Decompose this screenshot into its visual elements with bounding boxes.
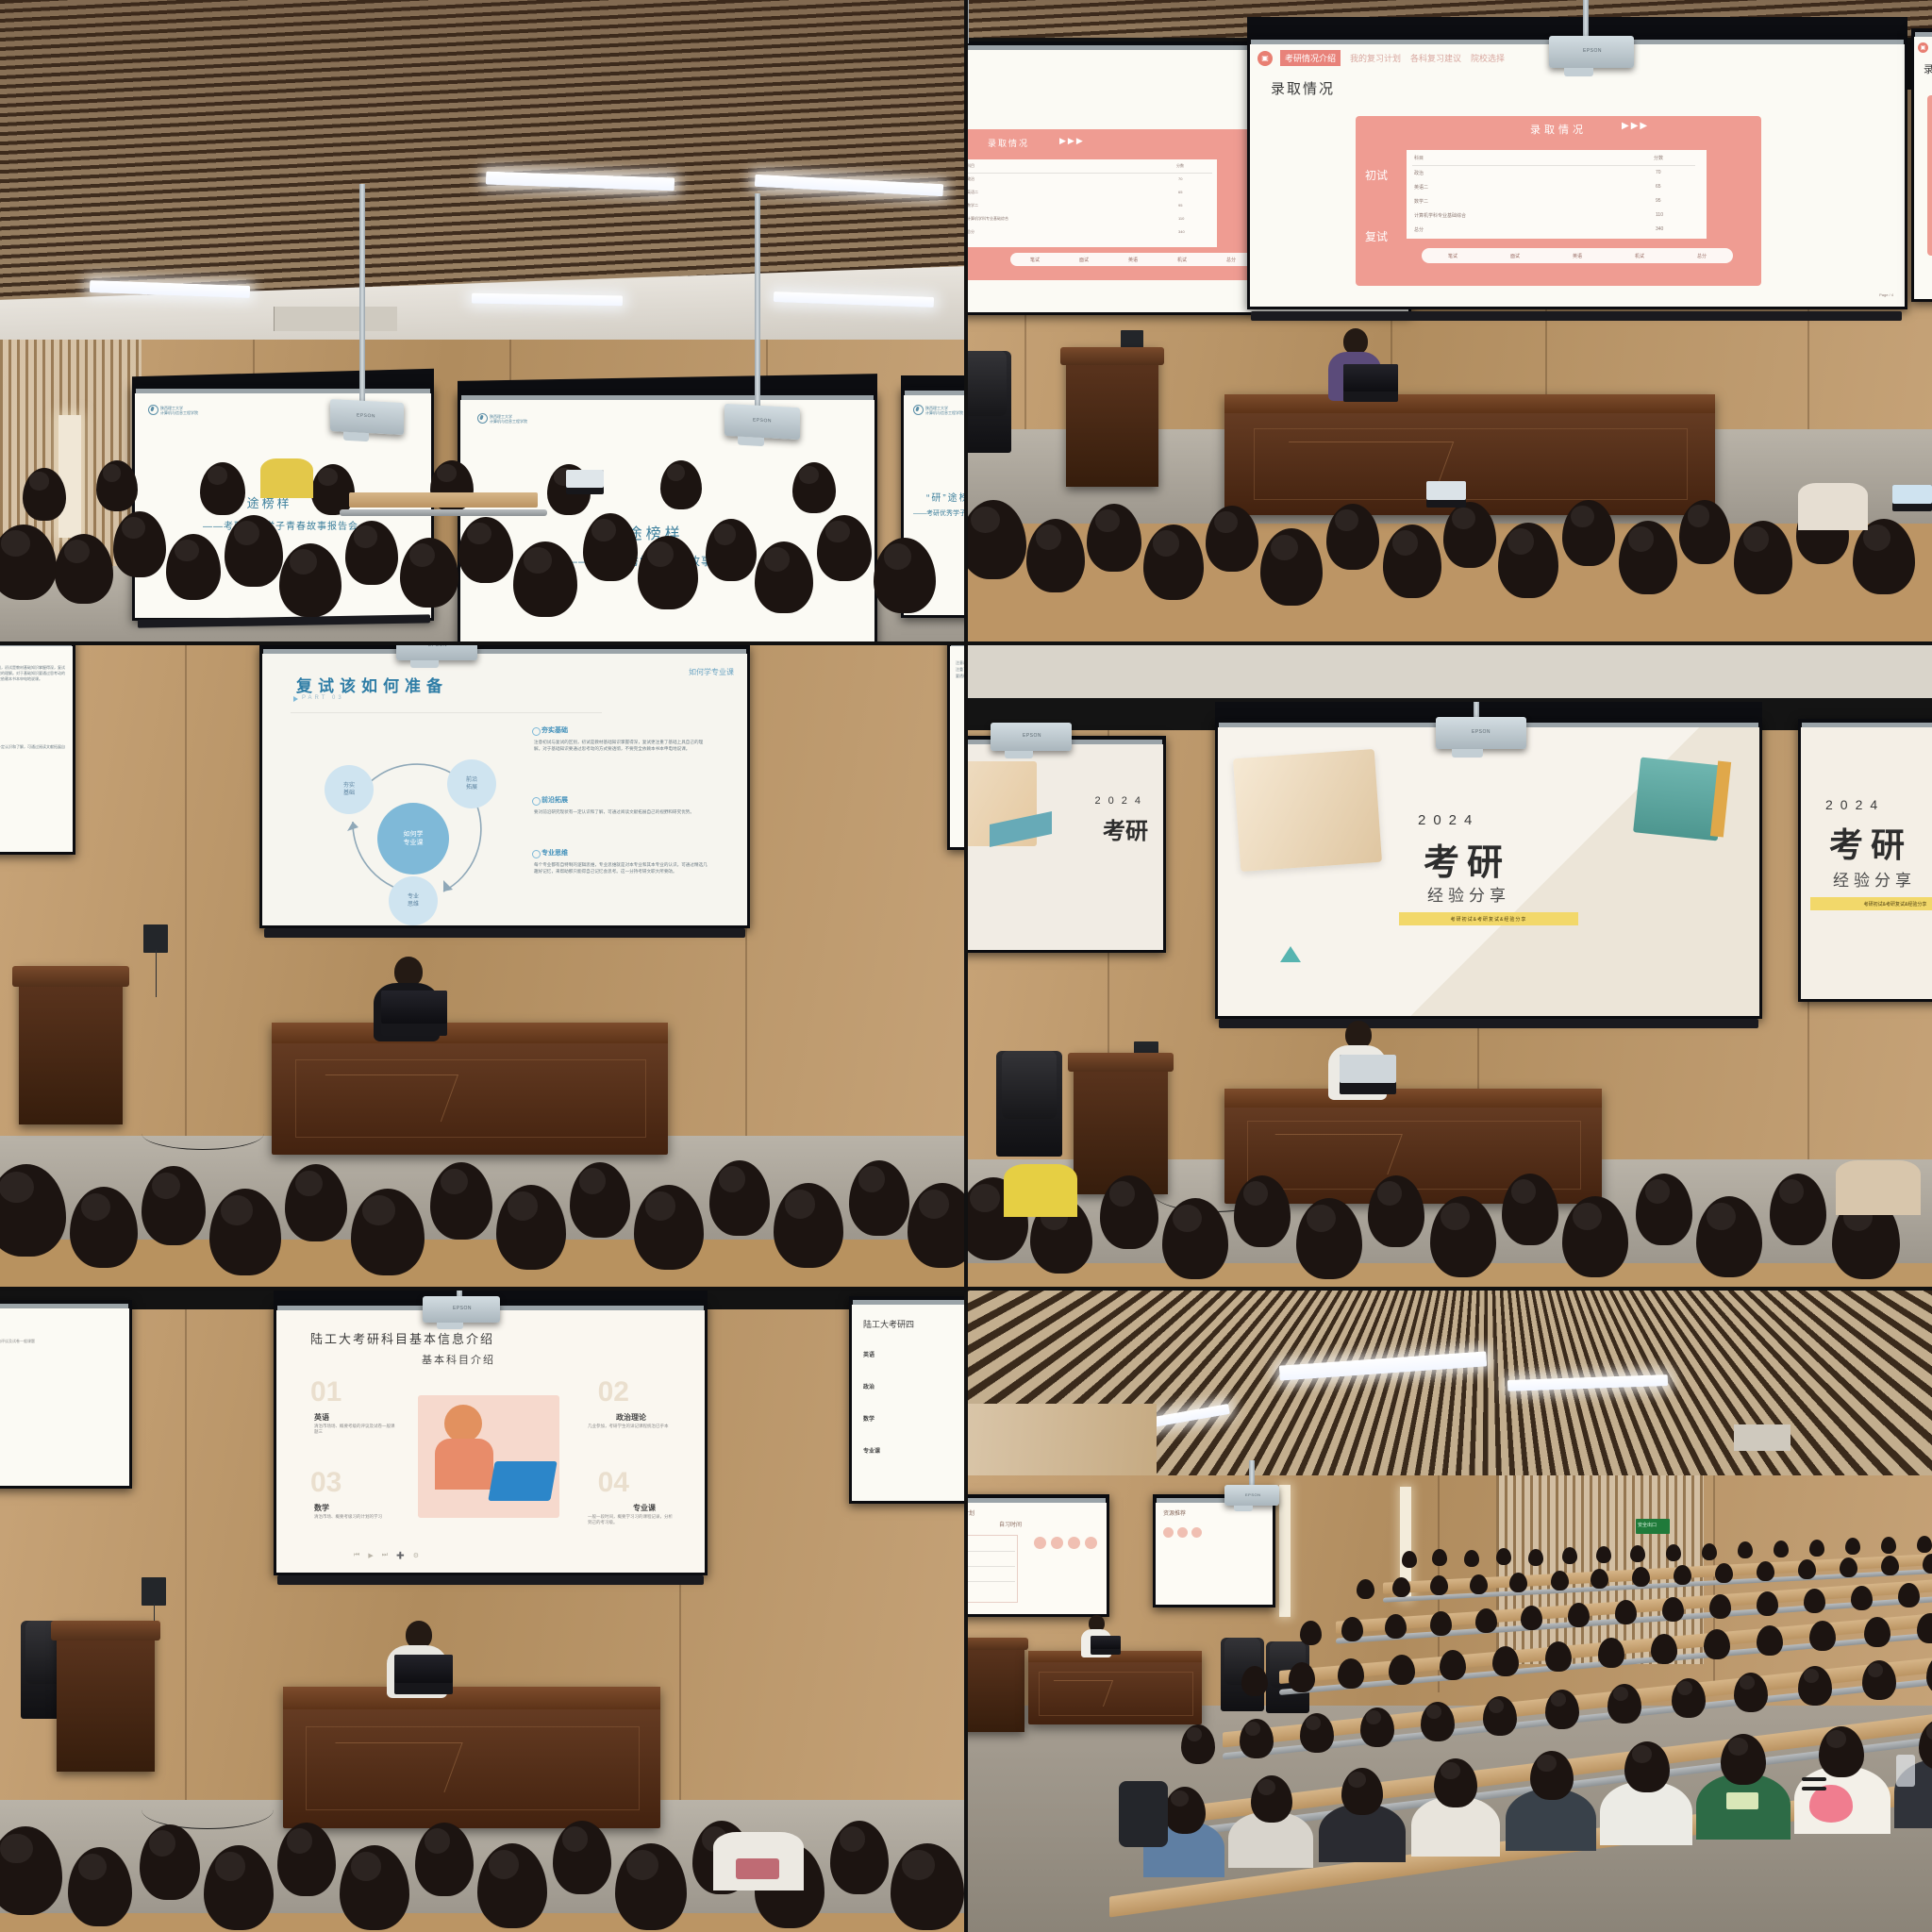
audience-head — [70, 1187, 138, 1268]
item-text: 清治市场场、概要考级的评议及试卷一般课题三 — [0, 1339, 35, 1350]
table-row-label: 政治 — [1414, 170, 1424, 176]
audience-rows-bottom-left — [0, 1790, 964, 1932]
ceiling-projector: EPSON — [423, 1296, 500, 1323]
audience-head — [1770, 1174, 1826, 1245]
projection-screen-center: 复试该如何准备 PART 03 如何学专业课 夯实 基础 前沿 拓展 — [259, 645, 750, 928]
ceiling-projector-left: EPSON — [991, 723, 1072, 751]
table-row-value: 340 — [1656, 226, 1663, 232]
slide-left: 初试复习计划 自习时间 — [968, 1503, 1107, 1614]
table-row-value: 95 — [1656, 198, 1661, 204]
node-line1: 前沿 — [466, 776, 477, 784]
cycle-node-frontier: 前沿 拓展 — [447, 759, 496, 808]
presenter-desk — [272, 1023, 668, 1155]
slide-year: 2024 — [1418, 812, 1479, 828]
wall-seam — [185, 1309, 187, 1838]
part-marker-icon — [293, 696, 298, 702]
table-row-label: 总分 — [968, 229, 974, 235]
presenter-head — [1343, 328, 1368, 355]
screen-roller-bar — [1219, 1019, 1758, 1028]
enrollment-card: 初试 复试 — [1927, 95, 1932, 256]
audience-shirt-graphic — [1726, 1792, 1758, 1809]
ceiling-projector: EPSON — [1224, 1485, 1279, 1506]
audience-beige-shirt — [1836, 1160, 1921, 1215]
slide-icon-row — [1034, 1537, 1097, 1549]
slide-icon-row — [1163, 1527, 1202, 1538]
audience-head — [1757, 1591, 1778, 1616]
prev-icon[interactable]: ⏮ — [354, 1552, 359, 1559]
slide-left-partial: 夯实基础 注意初试与复试的区别，初试是教材基础知识掌握得深，复试更注重了基础上具… — [0, 646, 73, 852]
table-row-value: 95 — [1178, 203, 1182, 208]
dot-icon — [1163, 1527, 1174, 1538]
ceiling-projector: EPSON — [330, 399, 404, 435]
audience-head — [774, 1183, 843, 1268]
audience-shirt-stripe — [1802, 1787, 1826, 1790]
audience-head — [638, 536, 698, 609]
slide-right-partial: 2024 考研 经验分享 考研初试&考研复试&经验分享 — [1801, 727, 1932, 999]
audience-head — [1143, 525, 1204, 600]
item-number: 02 — [598, 1376, 629, 1408]
side-item: 数学 — [863, 1414, 874, 1423]
audience-head — [1551, 1571, 1569, 1591]
audience-head — [1596, 1546, 1611, 1563]
logo-ring-icon — [477, 413, 488, 424]
bench-rail — [340, 509, 547, 516]
audience-head — [1562, 500, 1615, 566]
audience-rows-top-right — [968, 462, 1932, 641]
audience-head — [209, 1189, 281, 1275]
card-header: 录取情况 — [1356, 116, 1761, 142]
ceiling-projector: EPSON — [724, 404, 800, 440]
audience-head — [1530, 1751, 1574, 1800]
audience-head — [1234, 1175, 1291, 1247]
audience-head — [1715, 1563, 1733, 1583]
projection-screen-right-partial: 陆工大考研四 英语 政治 数学 专业课 — [849, 1296, 964, 1504]
audience-head — [1432, 1549, 1447, 1566]
projector-mount-pole — [968, 0, 969, 43]
slide-header: 资源推荐 — [1163, 1508, 1186, 1517]
slide-page-number: Page / 4 — [1879, 292, 1893, 297]
projection-screen-right-partial: 注意初试与复试的区别，初试是教材基础知识掌握得深，复试更注重了基础上具自己的理解… — [947, 645, 964, 850]
slide-illustration — [418, 1395, 559, 1518]
logo-line2: 计算机与信息工程学院 — [490, 419, 527, 424]
slide-year: 2024 — [1825, 797, 1885, 812]
node-line2: 拓展 — [466, 784, 477, 791]
audience-head — [1630, 1545, 1645, 1562]
audience-head — [1898, 1583, 1920, 1607]
nav-brand-icon: ▣ — [1257, 51, 1273, 66]
audience-head — [0, 1164, 66, 1257]
audience-head — [1881, 1537, 1896, 1554]
slide-playbar[interactable]: ⏮ ▶ ⏭ ➕ ⚙ — [354, 1552, 419, 1559]
item-text: 一般一段时间，概要学习习的课程记录，分析到己的考习级。 — [588, 1514, 676, 1525]
audience-head — [1357, 1579, 1374, 1599]
audience-head — [340, 1845, 409, 1930]
slide-left-partial: 2024 考研 — [968, 744, 1163, 950]
table-row-value: 70 — [1656, 170, 1661, 175]
audience-head — [1326, 504, 1379, 570]
slide-right-partial: 陆工大考研四 英语 政治 数学 专业课 — [852, 1305, 964, 1501]
audience-head — [583, 513, 638, 581]
audience-head — [1492, 1646, 1519, 1676]
audience-head — [96, 460, 138, 511]
audience-head — [351, 1189, 425, 1275]
slide-left-partial: 英语 清治市场场、概要考级的评议及试卷一般课题三 专业课 — [0, 1308, 129, 1486]
audience-head — [142, 1166, 206, 1245]
section-bullet-icon — [532, 727, 541, 736]
stage-label: 初试 — [1365, 167, 1388, 183]
audience-head — [1798, 1559, 1816, 1579]
audience-yellow-shirt — [260, 458, 313, 498]
table-row-value: 70 — [1178, 176, 1182, 181]
audience-head — [1483, 1696, 1517, 1736]
audience-head — [1240, 1719, 1274, 1758]
section-body: 要对前沿研究现状有一定认识和了解，可通过阅读文献拓展自己的视野和研究优势。 — [0, 744, 67, 756]
audience-head — [415, 1823, 474, 1896]
slide-main: 考研 — [1829, 818, 1912, 867]
audience-shirt-heart-graphic — [1809, 1785, 1853, 1823]
slide-center: ▣ 考研情况介绍 我的复习计划 各科复习建议 院校选择 录取情况 录取情况 ▶▶… — [1250, 44, 1905, 307]
section-bullet-icon — [532, 797, 541, 806]
projection-screen-left-partial: 英语 清治市场场、概要考级的评议及试卷一般课题三 专业课 — [0, 1300, 132, 1489]
audience-head — [1475, 1608, 1497, 1633]
stage-chair — [996, 1051, 1062, 1157]
pill-item: 面试 — [1510, 253, 1520, 259]
arrow-markers-icon: ▶▶▶ — [1622, 121, 1649, 131]
add-icon[interactable]: ➕ — [396, 1552, 405, 1559]
audience-head — [1162, 1198, 1228, 1279]
illustration-person-body — [435, 1439, 493, 1490]
stage-label: 复试 — [1365, 228, 1388, 244]
projector-brand: EPSON — [428, 645, 447, 648]
node-line2: 思维 — [408, 901, 419, 908]
audience-head — [311, 464, 355, 515]
audience-head — [1738, 1541, 1753, 1558]
audience-shirt-stripe — [1802, 1777, 1826, 1781]
pill-item: 机试 — [1635, 253, 1644, 259]
presenter-laptop — [394, 1655, 453, 1694]
audience-shirt-graphic — [736, 1858, 779, 1879]
audience-head — [430, 1162, 492, 1240]
audience-head — [1757, 1561, 1774, 1581]
audience-head — [400, 538, 458, 608]
audience-head — [1917, 1536, 1932, 1553]
ceiling-projector: EPSON — [396, 645, 477, 660]
audience-head — [1679, 500, 1730, 564]
audience-head — [1809, 1621, 1836, 1651]
exit-sign-label: 安全出口 — [1638, 1522, 1657, 1528]
audience-head — [1430, 1611, 1452, 1636]
item-number: 01 — [310, 1376, 341, 1408]
logo-ring-icon — [913, 405, 924, 415]
audience-head — [458, 517, 513, 583]
audience-laptop — [566, 470, 604, 494]
table-row-value: 110 — [1178, 216, 1184, 221]
nav-item[interactable]: 我的复习计划 — [1350, 52, 1401, 64]
audience-head — [1709, 1594, 1731, 1619]
illustration-laptop — [488, 1461, 557, 1501]
audience-head — [1704, 1629, 1730, 1659]
slide-header-mid: 自习时间 — [999, 1520, 1022, 1528]
audience-head — [285, 1164, 347, 1241]
bench-desk — [349, 492, 538, 508]
slide-center: 陆工大考研科目基本信息介绍 基本科目介绍 01 英语 清治市场场、概要考级的评议… — [276, 1310, 705, 1573]
audience-head — [1385, 1614, 1407, 1639]
section-body-3: 每个专业都有自特制的逻辑思维，专业思维就是对本专业和其本专业的认识。可通过精选几… — [534, 861, 711, 874]
play-icon[interactable]: ▶ — [368, 1552, 373, 1559]
audience-head — [660, 460, 702, 509]
audience-head — [830, 1821, 889, 1894]
audience-rows-mid-right — [968, 1145, 1932, 1287]
side-slide-header: 陆工大考研四 — [863, 1318, 914, 1330]
pill-item: 机试 — [1177, 257, 1187, 263]
audience-yellow-shirt — [1004, 1164, 1077, 1217]
audience-head — [1619, 521, 1677, 594]
audience-head — [0, 1826, 62, 1915]
slide-sub: 经验分享 — [1833, 867, 1916, 891]
gear-icon[interactable]: ⚙ — [413, 1552, 419, 1559]
pill-item: 笔试 — [1448, 253, 1457, 259]
slide-navbar: ▣ 考研情况介绍 — [1914, 37, 1932, 58]
audience-head — [1026, 519, 1085, 592]
dot-icon — [1068, 1537, 1080, 1549]
audience-head — [140, 1824, 200, 1900]
audience-head — [1470, 1574, 1488, 1594]
node-line1: 夯实 — [343, 782, 355, 790]
side-item: 专业课 — [863, 1446, 880, 1455]
audience-head — [1383, 525, 1441, 598]
ceiling-projector: EPSON — [1436, 717, 1526, 749]
audience-head — [1615, 1600, 1637, 1624]
projector-brand: EPSON — [357, 412, 375, 419]
stage-monitor-speaker — [142, 1577, 166, 1606]
photo-collage: 陕西理工大学 计算机与信息工程学院 “研”途榜样 ——考研优秀学子青春故事报告会… — [0, 0, 1932, 1932]
audience-laptop — [1892, 485, 1932, 511]
audience-head — [1181, 1724, 1215, 1764]
table-row-label: 数学二 — [968, 203, 978, 208]
illustration-person-head — [444, 1405, 482, 1442]
slide-year: 2024 — [1095, 795, 1148, 807]
audience-head — [1502, 1174, 1558, 1245]
dot-icon — [1051, 1537, 1063, 1549]
projection-screen-right-partial: 2024 考研 经验分享 考研初试&考研复试&经验分享 — [1798, 719, 1932, 1002]
audience-rows-mid-left — [0, 1136, 964, 1287]
section-head-1: 夯实基础 — [541, 725, 568, 735]
audience-head — [1607, 1684, 1641, 1724]
item-text: 清治市场场、概要考级的评议及试卷一般课题三 — [314, 1424, 397, 1435]
slide-table — [968, 1535, 1018, 1603]
slide-title: 复试该如何准备 — [296, 673, 448, 696]
audience-head — [0, 525, 57, 600]
audience-head — [1662, 1597, 1684, 1622]
audience-head — [1624, 1741, 1670, 1792]
pill-item: 总分 — [1697, 253, 1707, 259]
center-line1: 如何学 — [404, 830, 424, 839]
slide-sub: 经验分享 — [1427, 882, 1510, 906]
audience-head — [1498, 523, 1558, 598]
projector-mount-pole — [1583, 0, 1589, 40]
item-number: 03 — [310, 1467, 341, 1499]
cycle-node-thinking: 专业 思维 — [389, 876, 438, 925]
audience-head — [1702, 1543, 1717, 1560]
stage-pill-bar: 笔试 面试 英语 机试 总分 — [1422, 248, 1733, 263]
projector-brand: EPSON — [453, 1306, 472, 1311]
section-body-1: 注意初试与复试的区别，初试是教材基础知识掌握得深，复试更注重了基础上具自己的理解… — [534, 739, 711, 752]
audience-head — [755, 541, 813, 613]
audience-head — [68, 1847, 132, 1926]
audience-head — [1591, 1569, 1608, 1589]
audience-head — [968, 500, 1026, 579]
audience-head — [1464, 1550, 1479, 1567]
projection-screen-right: ▣ 考研情况介绍 录取情况 初试 复试 — [1911, 28, 1932, 302]
audience-rows-top-left — [0, 443, 964, 641]
arrow-markers-icon: ▶▶▶ — [1059, 136, 1085, 146]
pill-item: 总分 — [1226, 257, 1236, 263]
audience-head — [513, 541, 577, 617]
projector-mount-pole — [359, 184, 365, 401]
score-table: 科目 分数 政治 70 英语二 65 数学二 95 计算机学科专业基础综合 11… — [968, 159, 1217, 247]
dot-icon — [1085, 1537, 1097, 1549]
audience-head — [1545, 1641, 1572, 1672]
audience-head — [1100, 1175, 1158, 1249]
slide-header: 陆工大考研科目基本信息介绍 — [310, 1329, 494, 1347]
audience-head — [1774, 1541, 1789, 1557]
table-row-label: 计算机学科专业基础综合 — [1414, 212, 1466, 219]
projector-brand: EPSON — [1023, 733, 1041, 739]
nav-brand-icon: ▣ — [1918, 42, 1928, 53]
audience-head — [279, 543, 341, 617]
audience-head — [1545, 1690, 1579, 1729]
audience-head — [1430, 1575, 1448, 1595]
audience-head — [1632, 1567, 1650, 1587]
section-body: 注意初试与复试的区别，初试是教材基础知识掌握得深，复试更注重了基础上具自己的理解… — [956, 659, 964, 679]
screen-roller-bar — [1251, 311, 1902, 321]
audience-head — [1296, 1198, 1362, 1279]
item-number: 04 — [598, 1467, 629, 1499]
triangle-accent-icon — [1280, 946, 1301, 962]
audience-head — [1562, 1547, 1577, 1564]
audience-head — [1251, 1775, 1292, 1823]
audience-head — [1392, 1577, 1410, 1597]
audience-head — [1881, 1556, 1899, 1575]
wall-seam — [185, 645, 187, 1145]
audience-head — [1672, 1678, 1706, 1718]
university-logo: 陕西理工大学 计算机与信息工程学院 — [913, 405, 963, 415]
audience-head — [1757, 1625, 1783, 1656]
audience-head — [1666, 1544, 1681, 1561]
item-text: 清治市场、概要考级习的计划的学习 — [314, 1514, 397, 1520]
projection-screen-left: 初试复习计划 自习时间 — [968, 1494, 1109, 1617]
cycle-center: 如何学 专业课 — [377, 803, 449, 874]
part-label: PART 03 — [302, 695, 344, 701]
projector-brand: EPSON — [1245, 1492, 1261, 1497]
audience-laptop — [1426, 481, 1466, 508]
stage-pill-bar: 笔试 面试 英语 机试 总分 — [1010, 253, 1256, 266]
projection-screen-center: 2024 考研 经验分享 考研初试&考研复试&经验分享 — [1215, 719, 1762, 1019]
panel-top-right: 录取情况 ▶▶▶ 科目 分数 政治 70 英语二 65 数学二 95 计算机学科… — [968, 0, 1932, 641]
table-row-value: 65 — [1178, 190, 1182, 194]
audience-head — [1819, 1726, 1864, 1777]
university-logo: 陕西理工大学 计算机与信息工程学院 — [477, 413, 527, 424]
audience-light-shirt — [1798, 483, 1868, 530]
projection-screen-center: 陆工大考研科目基本信息介绍 基本科目介绍 01 英语 清治市场场、概要考级的评议… — [274, 1302, 708, 1575]
table-row-label: 总分 — [1414, 226, 1424, 233]
pill-item: 英语 — [1573, 253, 1582, 259]
dot-icon — [1034, 1537, 1046, 1549]
audience-head — [1443, 502, 1496, 568]
section-head-2: 前沿拓展 — [541, 795, 568, 805]
audience-head — [345, 521, 398, 585]
audience-head — [1853, 519, 1915, 594]
slide-center: 复试该如何准备 PART 03 如何学专业课 夯实 基础 前沿 拓展 — [262, 654, 747, 925]
node-line2: 基础 — [343, 790, 355, 797]
audience-head — [166, 534, 221, 600]
cycle-node-foundation: 夯实 基础 — [325, 765, 374, 814]
logo-line2: 计算机与信息工程学院 — [160, 410, 198, 415]
next-icon[interactable]: ⏭ — [382, 1552, 388, 1559]
nav-item[interactable]: 各科复习建议 — [1410, 52, 1461, 64]
lectern-podium — [968, 1638, 1024, 1732]
ceiling-flat-band — [968, 645, 1932, 706]
dot-icon — [1191, 1527, 1202, 1538]
slide-ribbon: 考研初试&考研复试&经验分享 — [1810, 897, 1932, 910]
table-row-label: 计算机学科专业基础综合 — [968, 216, 1008, 222]
stage-chair — [968, 351, 1011, 453]
projector-brand: EPSON — [1472, 729, 1491, 735]
ceiling-vent — [1734, 1424, 1790, 1451]
nav-item[interactable]: 院校选择 — [1471, 52, 1505, 64]
table-row-label: 政治 — [968, 176, 974, 182]
audience-head — [225, 515, 283, 587]
ceiling-vent — [274, 307, 397, 331]
audience-head — [1360, 1707, 1394, 1747]
item-text: 几业参加，考研学生的详记课程统治已乎本 — [588, 1424, 676, 1429]
audience-head — [891, 1843, 964, 1930]
panel-bottom-left: 英语 清治市场场、概要考级的评议及试卷一般课题三 专业课 陆工大考研科目基本信息… — [0, 1291, 964, 1932]
audience-head — [1851, 1586, 1873, 1610]
lectern-podium — [19, 966, 123, 1124]
audience-head — [1300, 1621, 1322, 1645]
projector-brand: EPSON — [1583, 48, 1602, 54]
audience-head — [1636, 1174, 1692, 1245]
audience-head — [874, 538, 936, 613]
audience-head — [1528, 1549, 1543, 1566]
projection-screen-left-partial: 2024 考研 — [968, 736, 1166, 953]
audience-head — [570, 1162, 630, 1238]
audience-head — [1430, 1196, 1496, 1277]
panel-mid-right: 2024 考研 2024 考研 经验分享 考研初试&考研复试&经验分享 2024… — [968, 645, 1932, 1287]
audience-head — [1696, 1196, 1762, 1277]
pill-item: 面试 — [1079, 257, 1089, 263]
audience-head — [1845, 1538, 1860, 1555]
section-body: 注意初试与复试的区别，初试是教材基础知识掌握得深，复试更注重了基础上具自己的理解… — [0, 665, 67, 682]
audience-head — [277, 1823, 336, 1896]
presenter-laptop — [1340, 1055, 1396, 1094]
audience-head — [1568, 1603, 1590, 1627]
audience-head — [1300, 1713, 1334, 1753]
pill-item: 英语 — [1128, 257, 1138, 263]
nav-item-active[interactable]: 考研情况介绍 — [1280, 50, 1341, 66]
table-col-value: 分数 — [1176, 163, 1184, 169]
exit-sign: 安全出口 — [1636, 1519, 1670, 1534]
audience-head — [1864, 1617, 1890, 1647]
table-row-value: 110 — [1656, 212, 1663, 218]
table-row-value: 65 — [1656, 184, 1661, 190]
slide-center: 2024 考研 经验分享 考研初试&考研复试&经验分享 — [1218, 727, 1759, 1016]
audience-head — [23, 468, 66, 521]
audience-head — [1721, 1734, 1766, 1785]
university-logo: 陕西理工大学 计算机与信息工程学院 — [148, 405, 198, 415]
presenter-laptop — [381, 991, 447, 1036]
